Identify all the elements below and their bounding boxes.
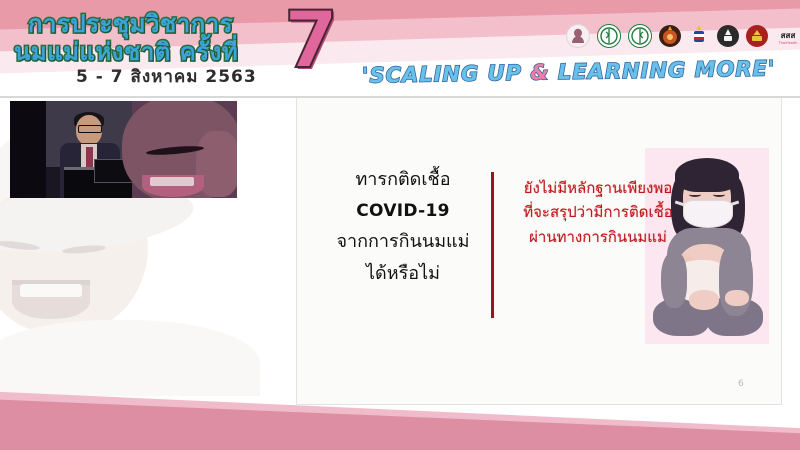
question-text-block: ทารกติดเชื้อ COVID-19 จากการกินนมแม่ ได้…: [314, 164, 492, 290]
conference-date: 5 - 7 สิงหาคม 2563: [76, 63, 257, 90]
slide-body: ทารกติดเชื้อ COVID-19 จากการกินนมแม่ ได้…: [0, 98, 800, 450]
question-line-4: ได้หรือไม่: [314, 258, 492, 290]
thaihealth-wordmark-icon: สสส ThaiHealth: [775, 25, 800, 47]
council-seal-icon: [717, 25, 739, 47]
question-line-2: COVID-19: [314, 196, 492, 226]
tagline-pre: 'SCALING UP: [362, 61, 531, 88]
conference-tagline: 'SCALING UP & LEARNING MORE': [362, 56, 776, 87]
slide-header-banner: 7 การประชุมวิชาการ นมแม่แห่งชาติ ครั้งที…: [0, 0, 800, 98]
royal-crest-glyph-icon: [659, 25, 681, 47]
medical-council-logo: [746, 25, 768, 47]
answer-line-3: ผ่านทางการกินนมแม่: [500, 225, 696, 249]
svg-text:สสส: สสส: [781, 31, 796, 40]
answer-text-block: ยังไม่มีหลักฐานเพียงพอ ที่จะสรุปว่ามีการ…: [500, 176, 696, 249]
medical-seal-icon: [746, 25, 768, 47]
royal-thai-emblem-logo: [688, 25, 710, 47]
royal-college-logo: [659, 25, 681, 47]
sponsor-logos: สสส ThaiHealth: [566, 24, 800, 48]
presentation-slide: 7 การประชุมวิชาการ นมแม่แห่งชาติ ครั้งที…: [0, 0, 800, 450]
red-vertical-divider: [491, 172, 494, 318]
edition-number: 7: [284, 2, 336, 80]
snake-staff-glyph-icon: [629, 25, 651, 47]
ministry-public-health-logo: [597, 24, 621, 48]
speaker-presentation-video[interactable]: [10, 101, 237, 198]
tagline-ampersand: &: [530, 60, 550, 84]
question-line-1: ทารกติดเชื้อ: [314, 164, 492, 196]
footer-band-solid: [0, 434, 800, 450]
department-health-logo: [628, 24, 652, 48]
svg-text:ThaiHealth: ThaiHealth: [778, 41, 798, 45]
thai-breastfeeding-centre-logo: [566, 24, 590, 48]
page-number: 6: [738, 379, 744, 389]
tagline-post: LEARNING MORE': [549, 56, 775, 84]
thaihealth-sss-logo: สสส ThaiHealth: [775, 25, 800, 47]
thai-royal-emblem-icon: [688, 25, 710, 47]
question-line-3: จากการกินนมแม่: [314, 226, 492, 258]
nurses-council-logo: [717, 25, 739, 47]
answer-line-2: ที่จะสรุปว่ามีการติดเชื้อ: [500, 200, 696, 224]
mother-child-glyph-icon: [567, 25, 589, 47]
answer-line-1: ยังไม่มีหลักฐานเพียงพอ: [500, 176, 696, 200]
snake-staff-glyph-icon: [598, 25, 620, 47]
